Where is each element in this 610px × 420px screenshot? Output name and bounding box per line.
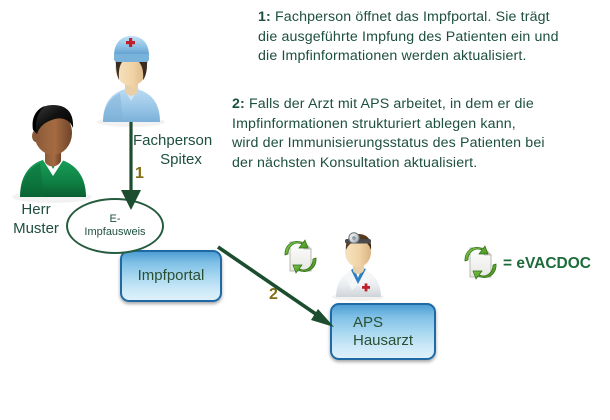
diagram-canvas: E- Impfausweis Impfportal APS Hausarzt H… (0, 0, 610, 420)
evacdoc-icons-layer (0, 0, 610, 420)
evacdoc-sync-document-icon-legend (465, 246, 496, 279)
evacdoc-sync-document-icon (285, 240, 316, 273)
